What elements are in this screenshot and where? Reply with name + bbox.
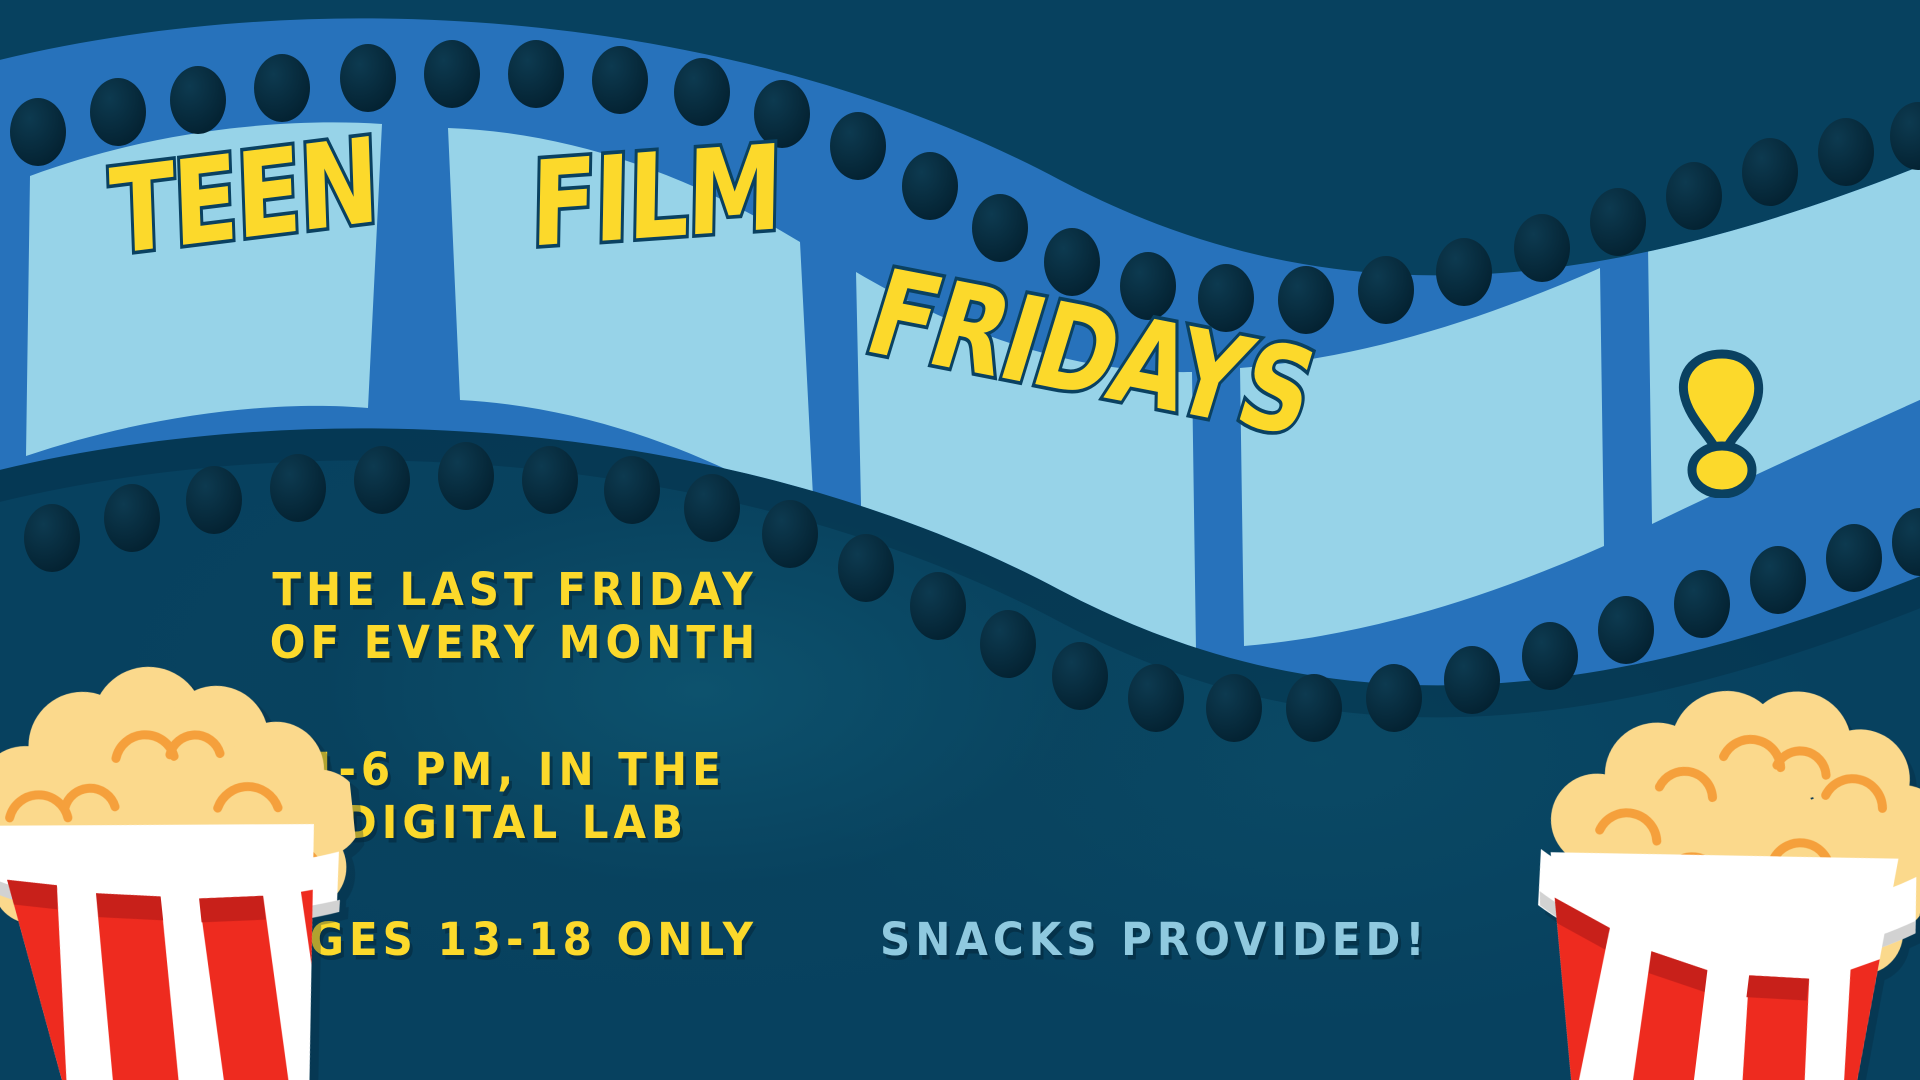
- headline-word-film: FILM: [530, 129, 781, 264]
- headline-exclamation-mark: [1662, 348, 1782, 498]
- popcorn-bucket-right: [1470, 616, 1920, 1080]
- detail-snacks: SNACKS PROVIDED!: [880, 914, 1480, 967]
- popcorn-bucket-left: [0, 611, 386, 1080]
- poster-canvas: TEEN FILM FRIDAYS THE LAST FRIDAY OF EVE…: [0, 0, 1920, 1080]
- headline-word-teen: TEEN: [108, 122, 379, 272]
